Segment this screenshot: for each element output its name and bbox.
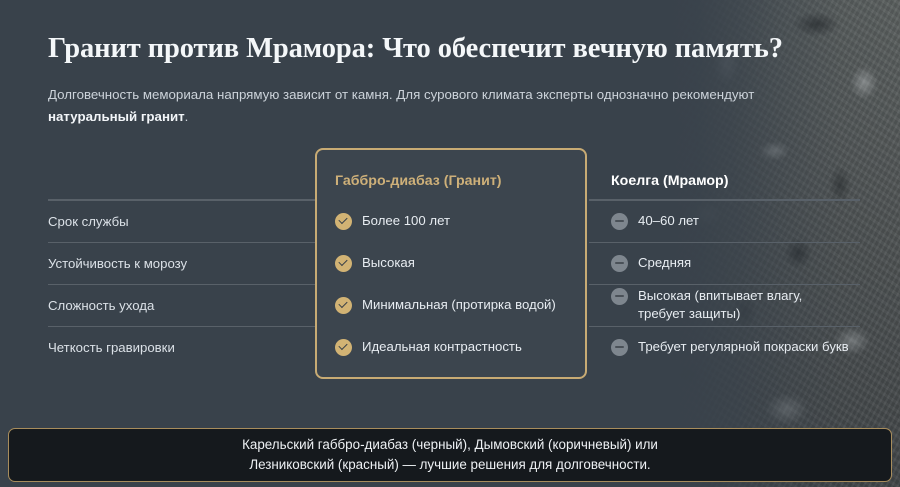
slide-content: Гранит против Мрамора: Что обеспечит веч… — [0, 0, 900, 420]
banner-line-2: Лезниковский (красный) — лучшие решения … — [249, 457, 650, 472]
row-divider-right — [589, 242, 860, 243]
table-row: Срок службы Более 100 лет 40–60 лет — [48, 200, 860, 242]
feature-label: Четкость гравировки — [48, 340, 315, 355]
check-circle-icon — [335, 339, 352, 356]
marble-cell-text: Средняя — [638, 254, 691, 273]
row-divider-left — [48, 284, 315, 285]
page-title: Гранит против Мрамора: Что обеспечит веч… — [48, 32, 860, 66]
check-circle-icon — [335, 213, 352, 230]
marble-cell: Высокая (впитывает влагу, требует защиты… — [611, 287, 852, 324]
subtitle-lead: Долговечность мемориала напрямую зависит… — [48, 87, 754, 102]
banner-text: Карельский габбро-диабаз (черный), Дымов… — [242, 435, 658, 476]
granite-cell-text: Более 100 лет — [362, 212, 450, 231]
subtitle-tail: . — [185, 109, 189, 124]
table-row: Четкость гравировки Идеальная контрастно… — [48, 326, 860, 368]
row-divider-right — [589, 326, 860, 327]
row-divider-right — [589, 284, 860, 285]
banner-line-1: Карельский габбро-диабаз (черный), Дымов… — [242, 437, 658, 452]
granite-cell-text: Минимальная (протирка водой) — [362, 296, 556, 315]
marble-cell-text: Высокая (впитывает влагу, требует защиты… — [638, 287, 852, 324]
check-circle-icon — [335, 255, 352, 272]
minus-circle-icon — [611, 255, 628, 272]
table-row: Сложность ухода Минимальная (протирка во… — [48, 284, 860, 326]
check-circle-icon — [335, 297, 352, 314]
granite-cell-text: Идеальная контрастность — [362, 338, 522, 357]
row-divider-left — [48, 326, 315, 327]
marble-cell-text: 40–60 лет — [638, 212, 699, 231]
slide-canvas: Гранит против Мрамора: Что обеспечит веч… — [0, 0, 900, 487]
granite-cell: Более 100 лет — [335, 212, 567, 231]
comparison-table: Габбро-диабаз (Гранит) Коелга (Мрамор) С… — [48, 148, 860, 368]
row-divider-left — [48, 242, 315, 243]
minus-circle-icon — [611, 288, 628, 305]
feature-label: Срок службы — [48, 214, 315, 229]
granite-cell: Идеальная контрастность — [335, 338, 567, 357]
column-header-marble: Коелга (Мрамор) — [611, 173, 852, 189]
minus-circle-icon — [611, 213, 628, 230]
table-row: Устойчивость к морозу Высокая Средняя — [48, 242, 860, 284]
granite-cell: Минимальная (протирка водой) — [335, 296, 567, 315]
marble-cell: Требует регулярной покраски букв — [611, 338, 852, 357]
marble-cell: Средняя — [611, 254, 852, 273]
subtitle-emphasis: натуральный гранит — [48, 109, 185, 124]
page-subtitle: Долговечность мемориала напрямую зависит… — [48, 84, 838, 127]
column-header-granite: Габбро-диабаз (Гранит) — [335, 173, 567, 189]
granite-cell-text: Высокая — [362, 254, 415, 273]
marble-cell: 40–60 лет — [611, 212, 852, 231]
recommendation-banner: Карельский габбро-диабаз (черный), Дымов… — [8, 428, 892, 482]
minus-circle-icon — [611, 339, 628, 356]
row-divider-left — [48, 200, 315, 201]
row-divider-right — [589, 200, 860, 201]
feature-label: Сложность ухода — [48, 298, 315, 313]
feature-label: Устойчивость к морозу — [48, 256, 315, 271]
granite-cell: Высокая — [335, 254, 567, 273]
marble-cell-text: Требует регулярной покраски букв — [638, 338, 849, 357]
table-header-row: Габбро-диабаз (Гранит) Коелга (Мрамор) — [48, 148, 860, 200]
